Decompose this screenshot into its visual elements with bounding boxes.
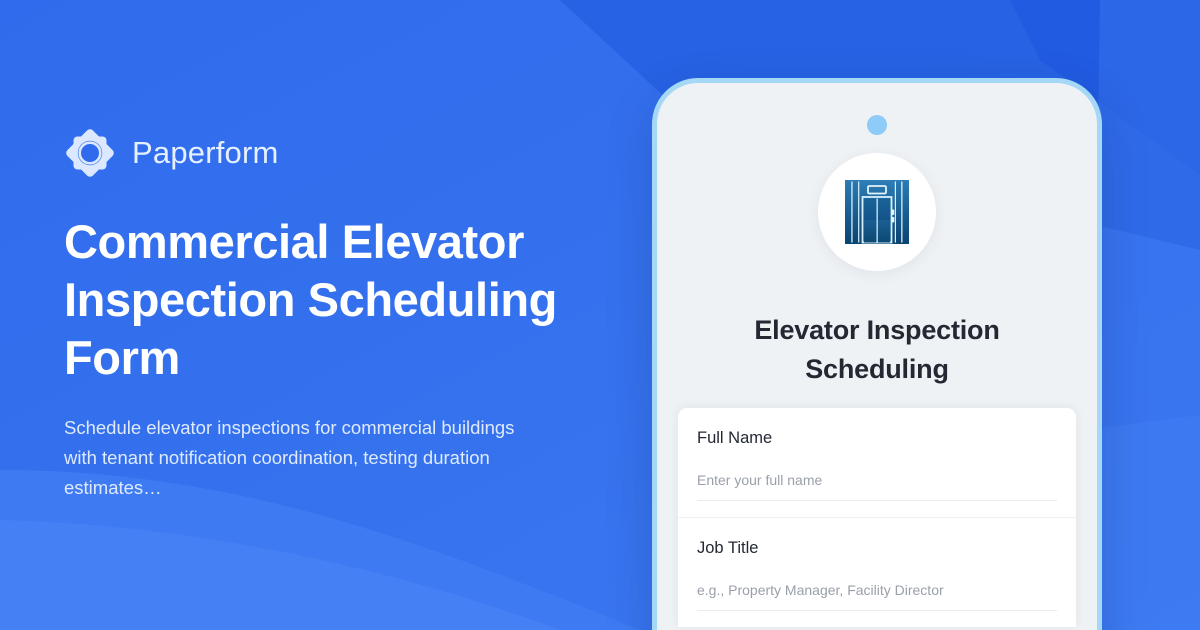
page-subtitle: Schedule elevator inspections for commer… xyxy=(64,413,544,503)
brand-name: Paperform xyxy=(132,135,279,171)
field-label-full-name: Full Name xyxy=(697,429,1057,448)
form-icon-badge xyxy=(818,153,936,271)
camera-dot-icon xyxy=(867,115,887,135)
hero-content: Paperform Commercial Elevator Inspection… xyxy=(64,0,664,630)
form-field-job-title: Job Title e.g., Property Manager, Facili… xyxy=(678,517,1076,627)
promo-banner: Paperform Commercial Elevator Inspection… xyxy=(0,0,1200,630)
form-field-full-name: Full Name Enter your full name xyxy=(678,408,1076,517)
page-title: Commercial Elevator Inspection Schedulin… xyxy=(64,213,624,387)
field-label-job-title: Job Title xyxy=(697,539,1057,558)
form-heading: Elevator Inspection Scheduling xyxy=(657,311,1097,389)
form-card: Full Name Enter your full name Job Title… xyxy=(678,408,1076,627)
phone-mockup: Elevator Inspection Scheduling Full Name… xyxy=(652,78,1102,630)
elevator-icon xyxy=(839,174,915,250)
input-full-name[interactable]: Enter your full name xyxy=(697,472,1057,501)
brand-lockup: Paperform xyxy=(64,127,664,179)
input-job-title[interactable]: e.g., Property Manager, Facility Directo… xyxy=(697,582,1057,611)
paperform-logo-icon xyxy=(64,127,116,179)
